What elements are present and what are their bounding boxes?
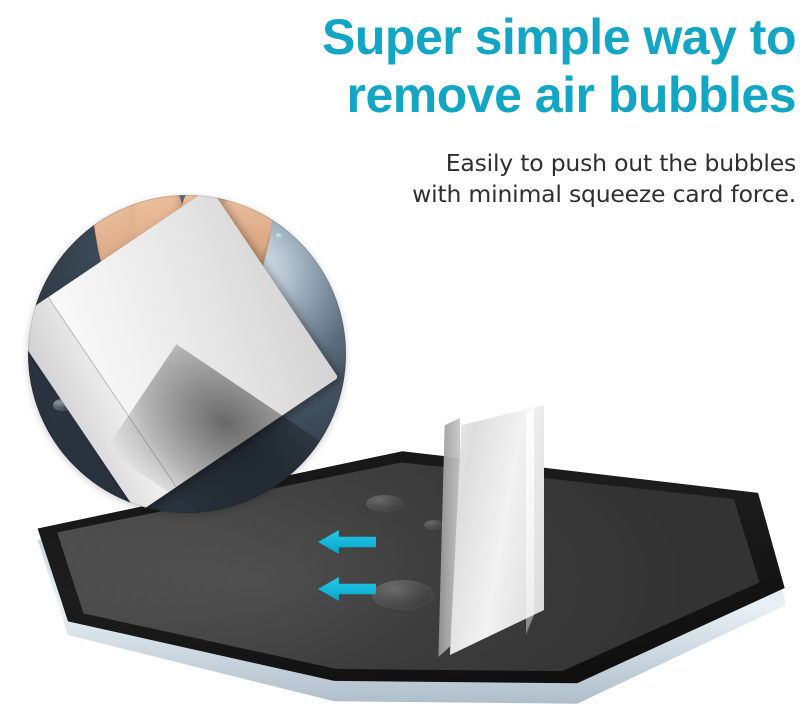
headline-line-2: remove air bubbles [200, 66, 796, 124]
page-subtitle: Easily to push out the bubbles with mini… [330, 148, 796, 210]
subtitle-line-1: Easily to push out the bubbles [330, 148, 796, 179]
page-title: Super simple way to remove air bubbles [200, 8, 796, 124]
product-feature-banner: Super simple way to remove air bubbles E… [0, 0, 800, 716]
inset-squeeze-card [28, 195, 338, 513]
headline-line-1: Super simple way to [200, 8, 796, 66]
inset-bubble [276, 233, 282, 238]
screen-bubble [366, 495, 404, 512]
squeeze-card [430, 405, 548, 655]
circular-inset-photo [28, 195, 346, 513]
screen-bubble [372, 580, 434, 610]
subtitle-line-2: with minimal squeeze card force. [330, 179, 796, 210]
squeeze-card-highlight [526, 407, 534, 649]
inset-squeeze-card-face [28, 195, 338, 513]
